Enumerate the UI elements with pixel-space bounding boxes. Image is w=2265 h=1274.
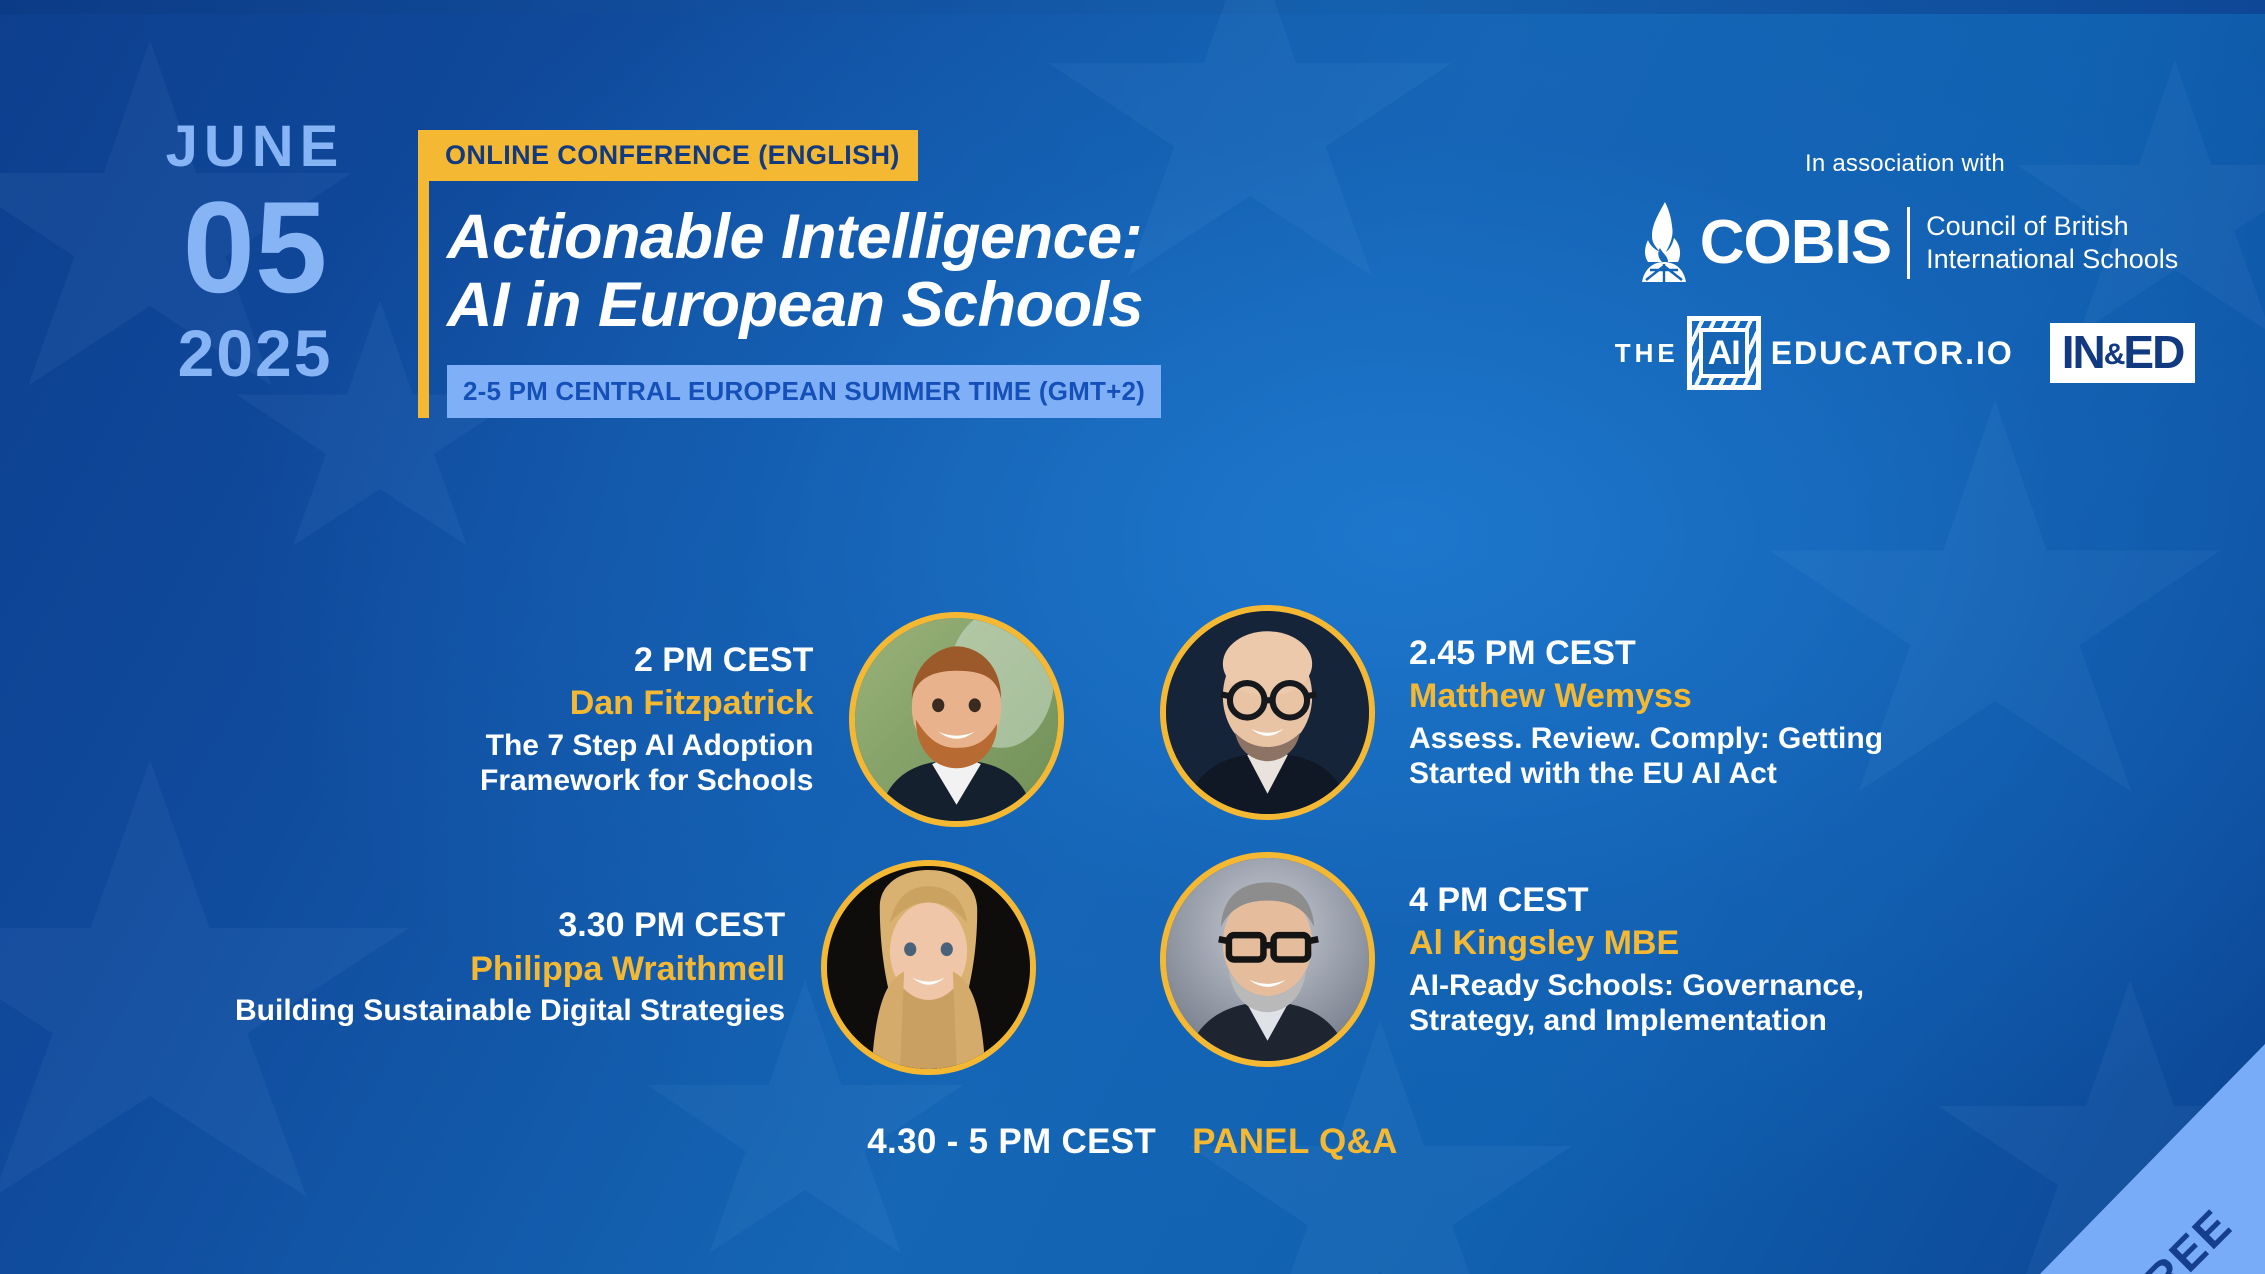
- session-4-speaker: Al Kingsley MBE: [1409, 920, 1864, 968]
- date-day: 05: [120, 182, 390, 312]
- session-1-text: 2 PM CEST Dan Fitzpatrick The 7 Step AI …: [480, 641, 813, 799]
- ai-educator-the: THE: [1615, 338, 1679, 369]
- session-card-3: 3.30 PM CEST Philippa Wraithmell Buildin…: [235, 860, 1036, 1075]
- panel-session: 4.30 - 5 PM CEST PANEL Q&A: [0, 1122, 2265, 1162]
- cobis-flame-icon: [1632, 200, 1696, 286]
- event-title-line-2: AI in European Schools: [447, 271, 1368, 339]
- session-3-topic-line-1: Building Sustainable Digital Strategies: [235, 993, 785, 1028]
- ai-educator-domain: EDUCATOR.IO: [1771, 335, 2014, 372]
- session-3-text: 3.30 PM CEST Philippa Wraithmell Buildin…: [235, 906, 785, 1028]
- panel-time: 4.30 - 5 PM CEST: [867, 1122, 1156, 1161]
- conference-type-badge: ONLINE CONFERENCE (ENGLISH): [429, 130, 918, 181]
- ined-ampersand: &: [2104, 340, 2124, 370]
- session-3-time: 3.30 PM CEST: [235, 906, 785, 945]
- ined-part-2: ED: [2123, 329, 2183, 375]
- ai-educator-book-icon: AI: [1687, 316, 1761, 390]
- session-2-text: 2.45 PM CEST Matthew Wemyss Assess. Revi…: [1409, 634, 1883, 792]
- session-3-speaker: Philippa Wraithmell: [235, 946, 785, 994]
- title-block: ONLINE CONFERENCE (ENGLISH) Actionable I…: [418, 130, 1368, 418]
- ined-part-1: IN: [2062, 329, 2104, 375]
- event-title-line-1: Actionable Intelligence:: [447, 203, 1368, 271]
- speaker-photo-philippa-wraithmell: [821, 860, 1036, 1075]
- session-1-topic-line-1: The 7 Step AI Adoption: [480, 728, 813, 763]
- cobis-wordmark: COBIS: [1696, 212, 1907, 274]
- panel-label: PANEL Q&A: [1192, 1122, 1398, 1161]
- session-1-time: 2 PM CEST: [480, 641, 813, 680]
- cobis-divider: [1907, 207, 1910, 279]
- cobis-logo: COBIS Council of British International S…: [1625, 200, 2185, 286]
- partner-logos: In association with COBIS Council of Bri…: [1625, 150, 2185, 390]
- speaker-photo-matthew-wemyss: [1160, 605, 1375, 820]
- session-2-topic-line-2: Started with the EU AI Act: [1409, 756, 1883, 791]
- session-4-topic-line-1: AI-Ready Schools: Governance,: [1409, 968, 1864, 1003]
- association-label: In association with: [1625, 150, 2185, 178]
- date-year: 2025: [120, 320, 390, 386]
- speaker-photo-al-kingsley: [1160, 852, 1375, 1067]
- speaker-photo-dan-fitzpatrick: [849, 612, 1064, 827]
- cobis-subtitle-line-1: Council of British: [1926, 210, 2178, 243]
- top-strip: [0, 0, 2265, 14]
- session-4-time: 4 PM CEST: [1409, 881, 1864, 920]
- cobis-subtitle: Council of British International Schools: [1926, 210, 2178, 276]
- event-date: JUNE 05 2025: [120, 118, 390, 386]
- ined-logo: IN&ED: [2050, 323, 2196, 383]
- session-card-2: 2.45 PM CEST Matthew Wemyss Assess. Revi…: [1160, 605, 1883, 820]
- ai-educator-ai: AI: [1708, 334, 1740, 373]
- session-2-topic-line-1: Assess. Review. Comply: Getting: [1409, 721, 1883, 756]
- cobis-subtitle-line-2: International Schools: [1926, 243, 2178, 276]
- session-card-4: 4 PM CEST Al Kingsley MBE AI-Ready Schoo…: [1160, 852, 1864, 1067]
- secondary-logos: THE AI EDUCATOR.IO IN&ED: [1625, 316, 2185, 390]
- free-ribbon: FREE: [2040, 1044, 2265, 1274]
- session-1-speaker: Dan Fitzpatrick: [480, 680, 813, 728]
- event-title: Actionable Intelligence: AI in European …: [429, 203, 1368, 339]
- event-banner: JUNE 05 2025 ONLINE CONFERENCE (ENGLISH)…: [0, 0, 2265, 1274]
- session-2-time: 2.45 PM CEST: [1409, 634, 1883, 673]
- ai-educator-book-inner: AI: [1699, 328, 1749, 378]
- session-2-speaker: Matthew Wemyss: [1409, 673, 1883, 721]
- session-4-text: 4 PM CEST Al Kingsley MBE AI-Ready Schoo…: [1409, 881, 1864, 1039]
- session-1-topic-line-2: Framework for Schools: [480, 763, 813, 798]
- event-time-badge: 2-5 PM CENTRAL EUROPEAN SUMMER TIME (GMT…: [447, 365, 1161, 418]
- date-month: JUNE: [120, 118, 390, 176]
- session-card-1: 2 PM CEST Dan Fitzpatrick The 7 Step AI …: [480, 612, 1064, 827]
- session-4-topic-line-2: Strategy, and Implementation: [1409, 1003, 1864, 1038]
- ai-educator-logo: THE AI EDUCATOR.IO: [1615, 316, 2014, 390]
